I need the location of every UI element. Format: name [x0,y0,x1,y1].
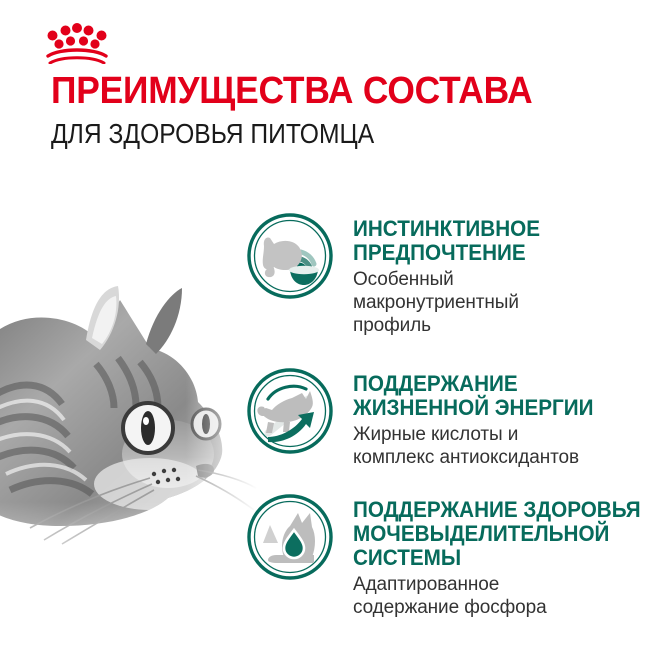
benefit-title: ПОДДЕРЖАНИЕ ЗДОРОВЬЯ МОЧЕВЫДЕЛИТЕЛЬНОЙ С… [353,498,648,570]
benefit-item-vital-energy: ПОДДЕРЖАНИЕ ЖИЗНЕННОЙ ЭНЕРГИИ Жирные кис… [246,367,667,469]
benefit-description: Жирные кислоты и комплекс антиоксидантов [353,423,667,469]
royal-canin-crown-icon [46,22,108,64]
promo-panel: ПРЕИМУЩЕСТВА СОСТАВА ДЛЯ ЗДОРОВЬЯ ПИТОМЦ… [0,0,667,667]
benefit-text: ПОДДЕРЖАНИЕ ЗДОРОВЬЯ МОЧЕВЫДЕЛИТЕЛЬНОЙ С… [334,493,667,619]
benefit-item-urinary-health: ПОДДЕРЖАНИЕ ЗДОРОВЬЯ МОЧЕВЫДЕЛИТЕЛЬНОЙ С… [246,493,667,619]
benefit-item-instinctive-preference: ИНСТИНКТИВНОЕ ПРЕДПОЧТЕНИЕ Особенный мак… [246,212,667,337]
sitting-cat-water-drop-icon [246,493,334,581]
jumping-cat-arrow-icon [246,367,334,455]
benefit-title: ИНСТИНКТИВНОЕ ПРЕДПОЧТЕНИЕ [353,217,648,265]
benefit-text: ИНСТИНКТИВНОЕ ПРЕДПОЧТЕНИЕ Особенный мак… [334,212,667,337]
cat-eating-bowl-icon [246,212,334,300]
page-title: ПРЕИМУЩЕСТВА СОСТАВА [51,70,590,112]
page-title-block: ПРЕИМУЩЕСТВА СОСТАВА ДЛЯ ЗДОРОВЬЯ ПИТОМЦ… [51,70,631,149]
benefit-description: Особенный макронутриентный профиль [353,268,667,337]
cat-photo [0,278,258,598]
benefit-description: Адаптированное содержание фосфора [353,573,667,619]
benefit-text: ПОДДЕРЖАНИЕ ЖИЗНЕННОЙ ЭНЕРГИИ Жирные кис… [334,367,667,469]
page-subtitle: ДЛЯ ЗДОРОВЬЯ ПИТОМЦА [51,119,561,149]
benefit-title: ПОДДЕРЖАНИЕ ЖИЗНЕННОЙ ЭНЕРГИИ [353,372,648,420]
